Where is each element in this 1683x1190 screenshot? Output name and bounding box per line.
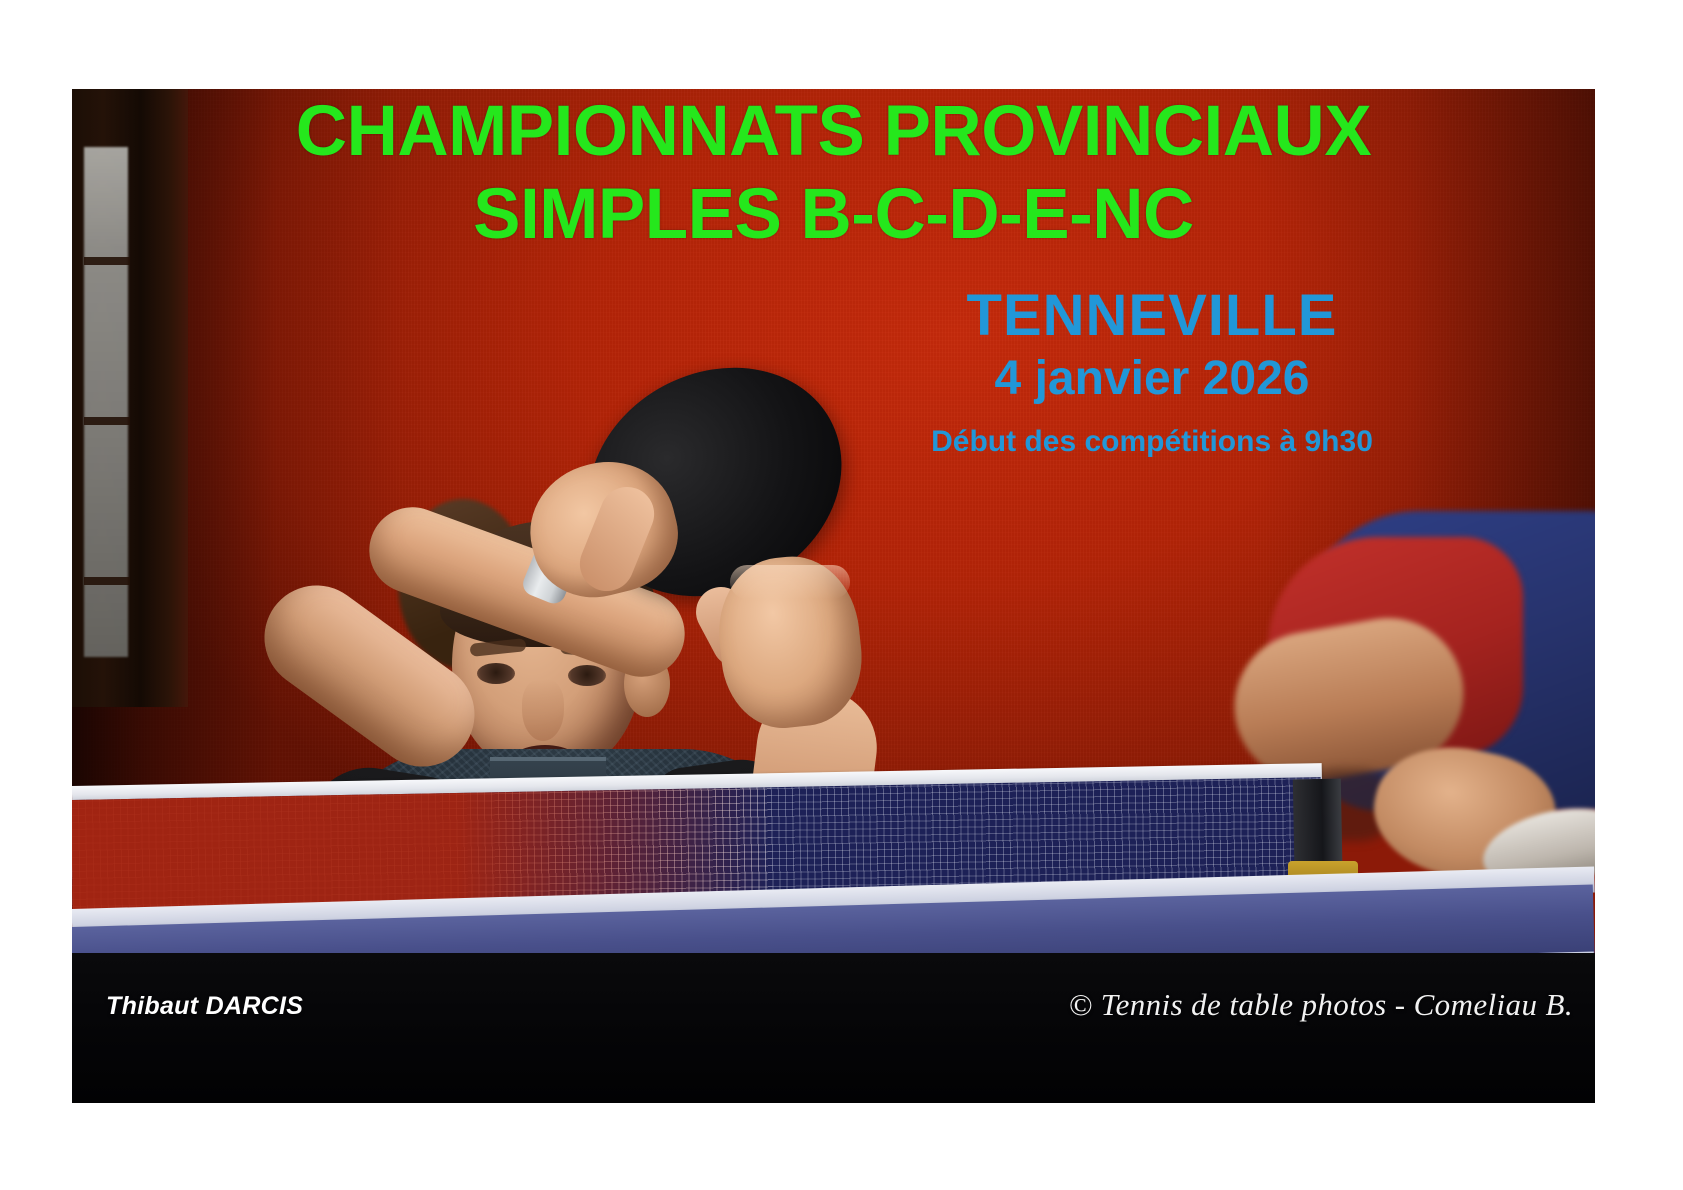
photo-credit-caption: © Tennis de table photos - Comeliau B. bbox=[1069, 987, 1573, 1023]
door-mullion bbox=[84, 577, 130, 585]
player-eye-right bbox=[568, 665, 606, 686]
player-free-knuckles bbox=[730, 565, 850, 599]
door-mullion bbox=[84, 257, 130, 265]
player-name-caption: Thibaut DARCIS bbox=[106, 992, 303, 1021]
photo-bottom-band bbox=[72, 953, 1595, 1103]
player-eye-left bbox=[477, 663, 515, 684]
tournament-photo: ROYAL CS CASTELLA STIGA STIGA STIGA bbox=[72, 89, 1595, 1103]
poster-canvas: ROYAL CS CASTELLA STIGA STIGA STIGA bbox=[0, 0, 1683, 1190]
door-mullion bbox=[84, 417, 130, 425]
door-frame bbox=[72, 89, 188, 707]
player-nose bbox=[522, 679, 564, 741]
